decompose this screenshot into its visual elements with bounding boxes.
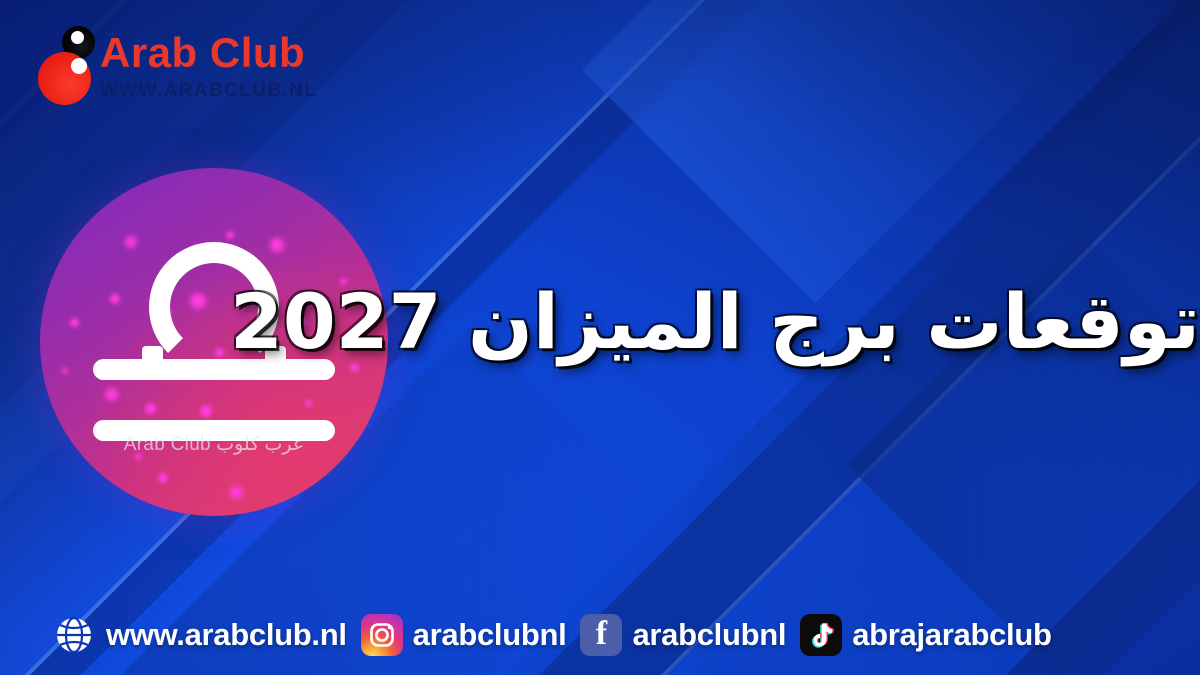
social-label-instagram: arabclubnl — [413, 617, 567, 653]
instagram-icon — [361, 614, 403, 656]
sparkle-dot — [226, 231, 234, 239]
logo-text-block: Arab Club WWW.ARABCLUB.NL — [100, 20, 317, 102]
page-title: توقعات برج الميزان 2027 — [380, 282, 1200, 362]
tiktok-icon — [800, 614, 842, 656]
social-label-facebook: arabclubnl — [632, 617, 786, 653]
logo-mark-icon — [24, 20, 92, 104]
sparkle-dot — [230, 486, 243, 499]
globe-icon — [52, 613, 96, 657]
logo-website-url: WWW.ARABCLUB.NL — [100, 80, 317, 102]
sparkle-dot — [62, 368, 68, 374]
social-item-website[interactable]: www.arabclub.nl — [52, 613, 347, 657]
badge-watermark: عرب كلوب Arab Club — [40, 433, 388, 456]
social-bar: www.arabclub.nl arabclubnl f arabclubnl — [52, 613, 1052, 657]
facebook-icon: f — [580, 614, 622, 656]
logo-title: Arab Club — [100, 32, 317, 74]
sparkle-dot — [70, 318, 79, 327]
social-label-website: www.arabclub.nl — [106, 617, 347, 653]
social-item-instagram[interactable]: arabclubnl — [361, 614, 567, 656]
social-item-facebook[interactable]: f arabclubnl — [580, 614, 786, 656]
logo-red-circle-icon — [38, 52, 91, 105]
brand-logo[interactable]: Arab Club WWW.ARABCLUB.NL — [24, 20, 317, 104]
social-label-tiktok: abrajarabclub — [852, 617, 1051, 653]
poster-canvas: Arab Club WWW.ARABCLUB.NL عرب كلو — [0, 0, 1200, 675]
sparkle-dot — [158, 473, 168, 483]
social-item-tiktok[interactable]: abrajarabclub — [800, 614, 1051, 656]
